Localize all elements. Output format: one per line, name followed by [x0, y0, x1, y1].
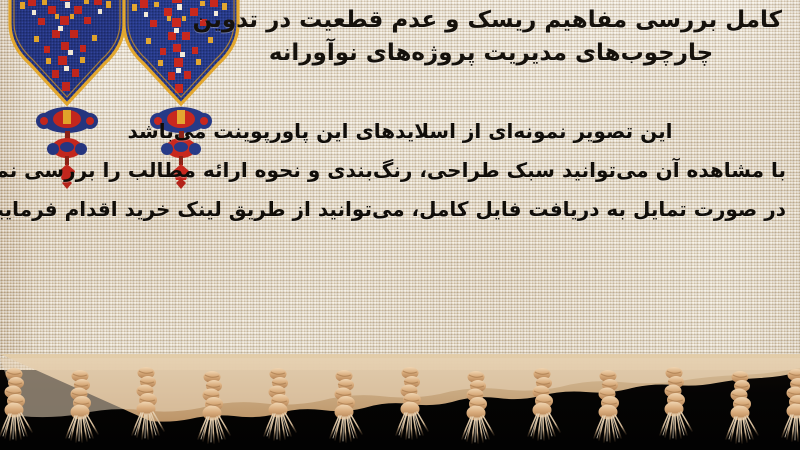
carpet-fringe	[0, 354, 800, 450]
body-line-2: با مشاهده آن می‌توانید سبک طراحی، رنگ‌بن…	[14, 151, 786, 190]
slide-canvas: کامل بررسی مفاهیم ریسک و عدم قطعیت در تد…	[0, 0, 800, 450]
title-line-1: کامل بررسی مفاهیم ریسک و عدم قطعیت در تد…	[200, 4, 782, 37]
slide-title: کامل بررسی مفاهیم ریسک و عدم قطعیت در تد…	[200, 4, 782, 69]
body-line-3: در صورت تمایل به دریافت فایل کامل، می‌تو…	[14, 190, 786, 229]
title-line-2: چارچوب‌های مدیریت پروژه‌های نوآورانه	[200, 37, 782, 70]
body-line-1: این تصویر نمونه‌ای از اسلایدهای این پاور…	[14, 112, 786, 151]
fringe-tassels-icon	[0, 354, 800, 450]
slide-body: این تصویر نمونه‌ای از اسلایدهای این پاور…	[14, 112, 786, 229]
